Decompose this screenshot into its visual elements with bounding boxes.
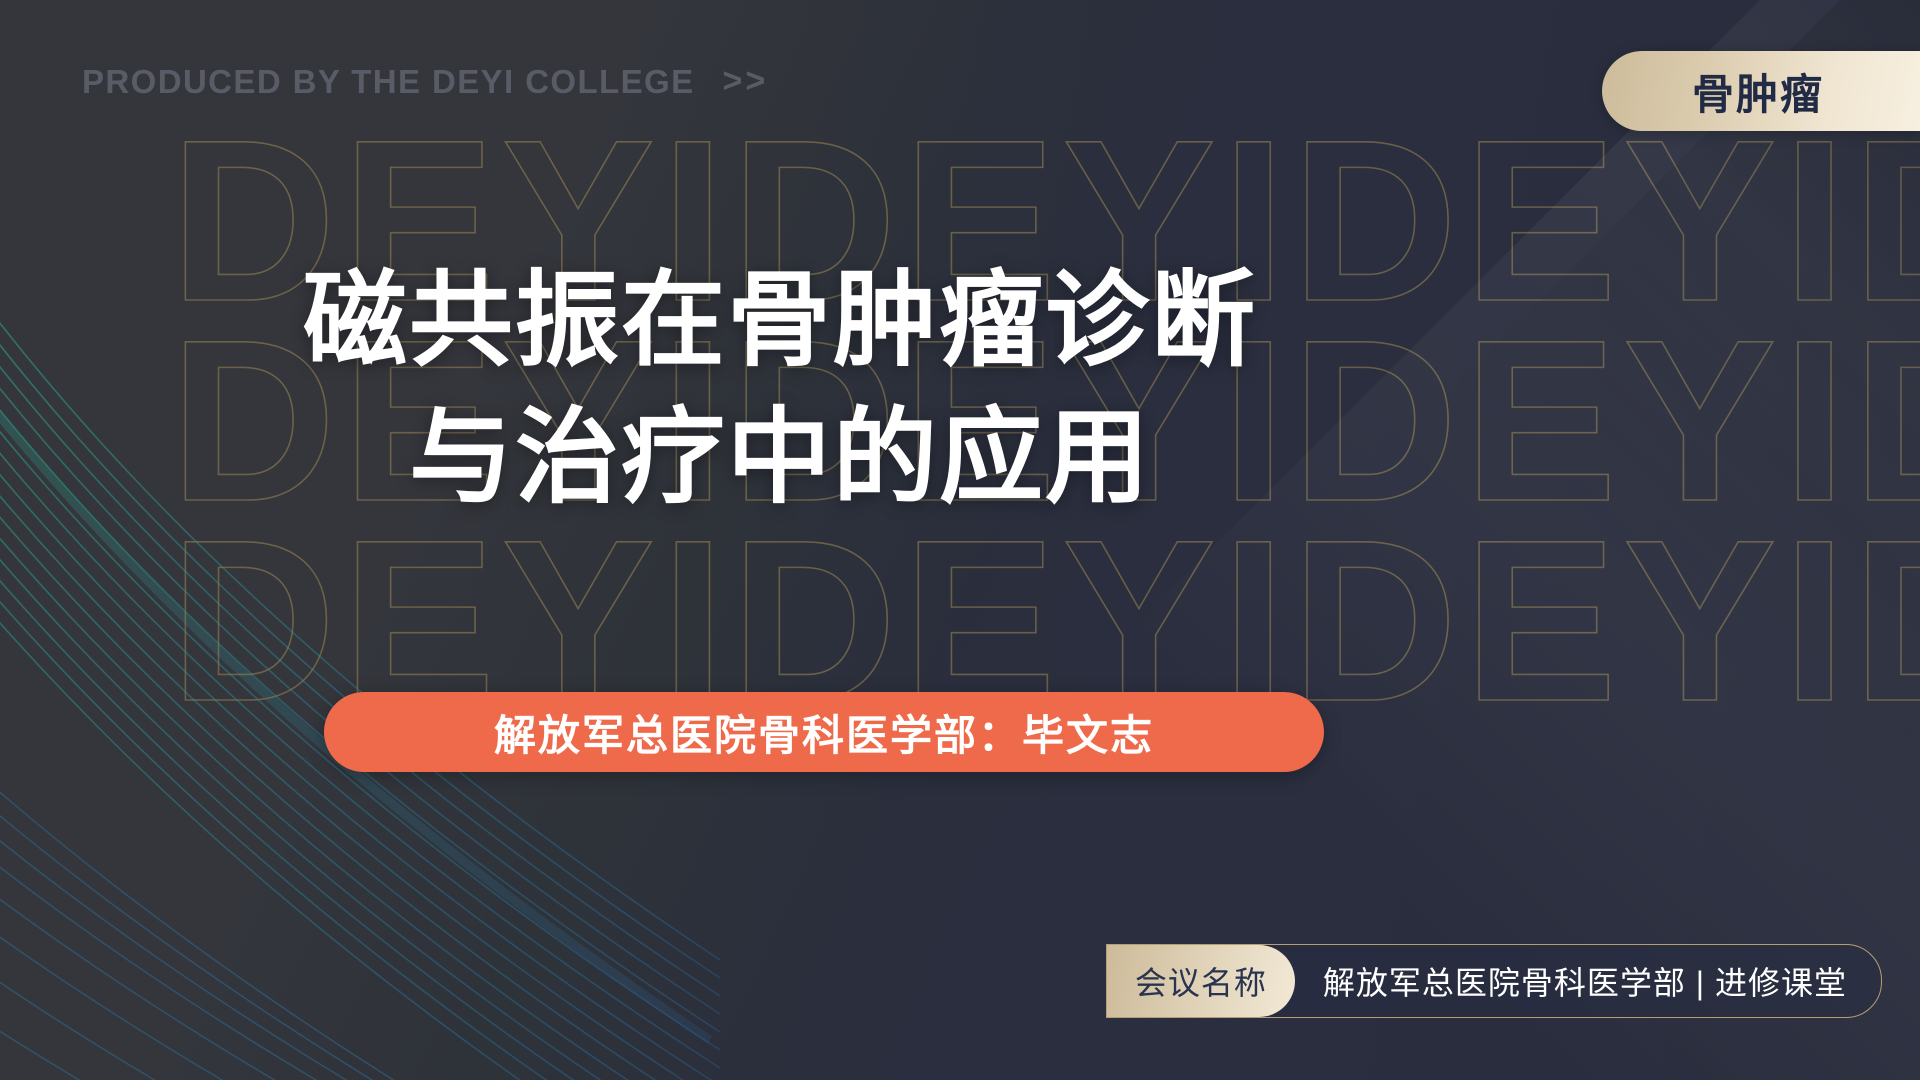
footer-label-chip: 会议名称 bbox=[1107, 945, 1295, 1017]
chevron-right-icon: >> bbox=[723, 62, 769, 101]
title-line-2: 与治疗中的应用 bbox=[0, 390, 1560, 527]
page-title: 磁共振在骨肿瘤诊断 与治疗中的应用 bbox=[0, 253, 1560, 528]
topic-badge: 骨肿瘤 bbox=[1602, 51, 1920, 131]
footer-value-chip: 解放军总医院骨科医学部 | 进修课堂 bbox=[1277, 945, 1881, 1017]
presenter-text: 解放军总医院骨科医学部：毕文志 bbox=[494, 702, 1154, 763]
footer-value-text: 解放军总医院骨科医学部 | 进修课堂 bbox=[1323, 958, 1847, 1004]
kicker-text: PRODUCED BY THE DEYI COLLEGE bbox=[82, 63, 695, 101]
title-line-1: 磁共振在骨肿瘤诊断 bbox=[0, 253, 1560, 390]
topic-badge-label: 骨肿瘤 bbox=[1692, 61, 1824, 122]
kicker-line: PRODUCED BY THE DEYI COLLEGE >> bbox=[82, 62, 768, 101]
slide-canvas: DEYIDEYIDEYIDEYI DEYIDEYIDEYIDEYI DEYIDE… bbox=[0, 0, 1920, 1080]
footer-bar: 会议名称 解放军总医院骨科医学部 | 进修课堂 bbox=[1106, 944, 1882, 1018]
footer-label-text: 会议名称 bbox=[1135, 958, 1267, 1004]
presenter-pill: 解放军总医院骨科医学部：毕文志 bbox=[324, 692, 1324, 772]
right-fade-overlay bbox=[0, 0, 1920, 1080]
